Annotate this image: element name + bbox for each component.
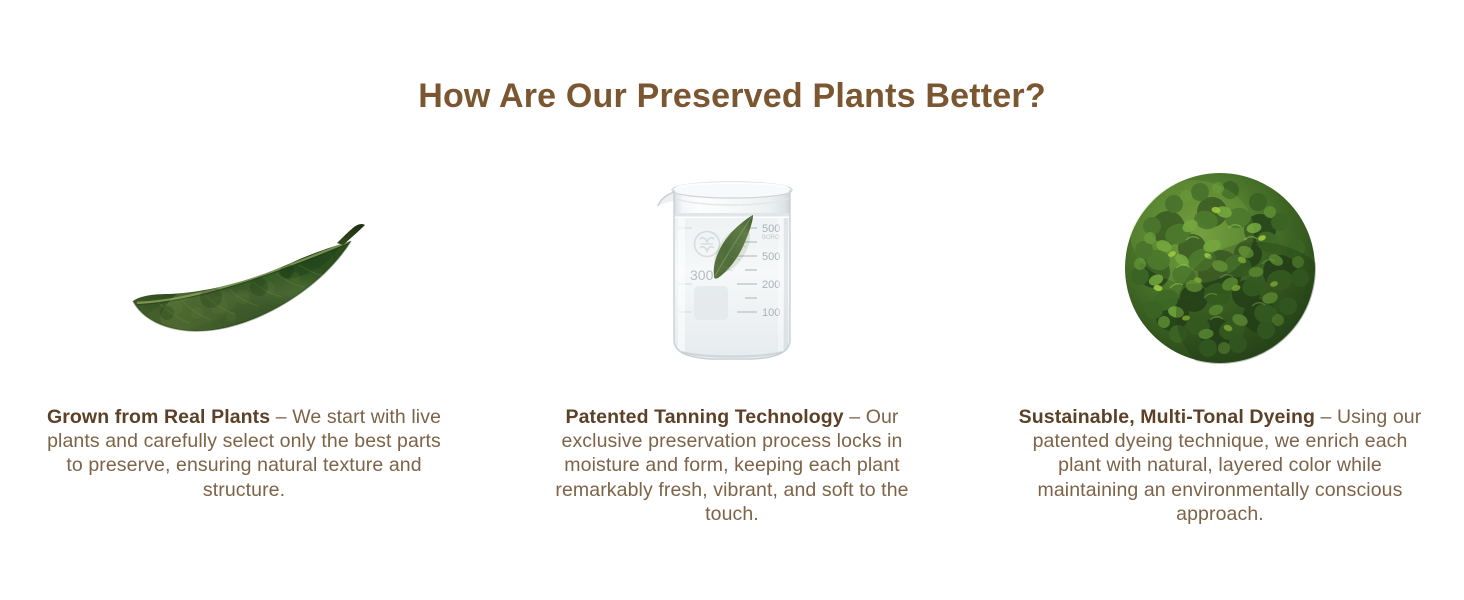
svg-text:500: 500: [762, 251, 780, 263]
laboratory-beaker-with-leaf-photo: 300: [652, 168, 812, 368]
benefit-column-patented-tanning-technology: 300: [488, 150, 976, 546]
benefit-caption: Sustainable, Multi-Tonal Dyeing – Using …: [1016, 405, 1424, 527]
svg-text:BORO: BORO: [762, 235, 780, 241]
benefit-caption-lead: Patented Tanning Technology: [565, 406, 843, 428]
benefit-column-sustainable-dyeing: Sustainable, Multi-Tonal Dyeing – Using …: [976, 150, 1464, 546]
topiary-ball-icon: [1120, 168, 1320, 368]
svg-text:200: 200: [762, 279, 780, 291]
benefit-caption-lead: Grown from Real Plants: [47, 406, 270, 428]
preserved-topiary-ball-photo: [1120, 168, 1320, 368]
page-title: How Are Our Preserved Plants Better?: [0, 76, 1464, 117]
beaker-volume-label: 300: [690, 267, 714, 283]
benefit-caption: Patented Tanning Technology – Our exclus…: [528, 405, 936, 527]
benefit-caption: Grown from Real Plants – We start with l…: [40, 405, 448, 503]
benefit-figure-leaf: [0, 150, 488, 385]
benefit-column-grown-from-real-plants: Grown from Real Plants – We start with l…: [0, 150, 488, 522]
benefit-caption-lead: Sustainable, Multi-Tonal Dyeing: [1019, 406, 1315, 428]
preserved-plants-benefits-section: How Are Our Preserved Plants Better?: [0, 0, 1464, 600]
benefit-figure-beaker: 300: [488, 150, 976, 385]
benefit-figure-topiary-ball: [976, 150, 1464, 385]
benefit-columns: Grown from Real Plants – We start with l…: [0, 150, 1464, 546]
svg-text:500: 500: [762, 223, 780, 235]
svg-text:100: 100: [762, 307, 780, 319]
preserved-leaf-photo: [119, 193, 369, 343]
leaf-icon: [119, 193, 369, 343]
beaker-icon: 300: [652, 168, 812, 368]
